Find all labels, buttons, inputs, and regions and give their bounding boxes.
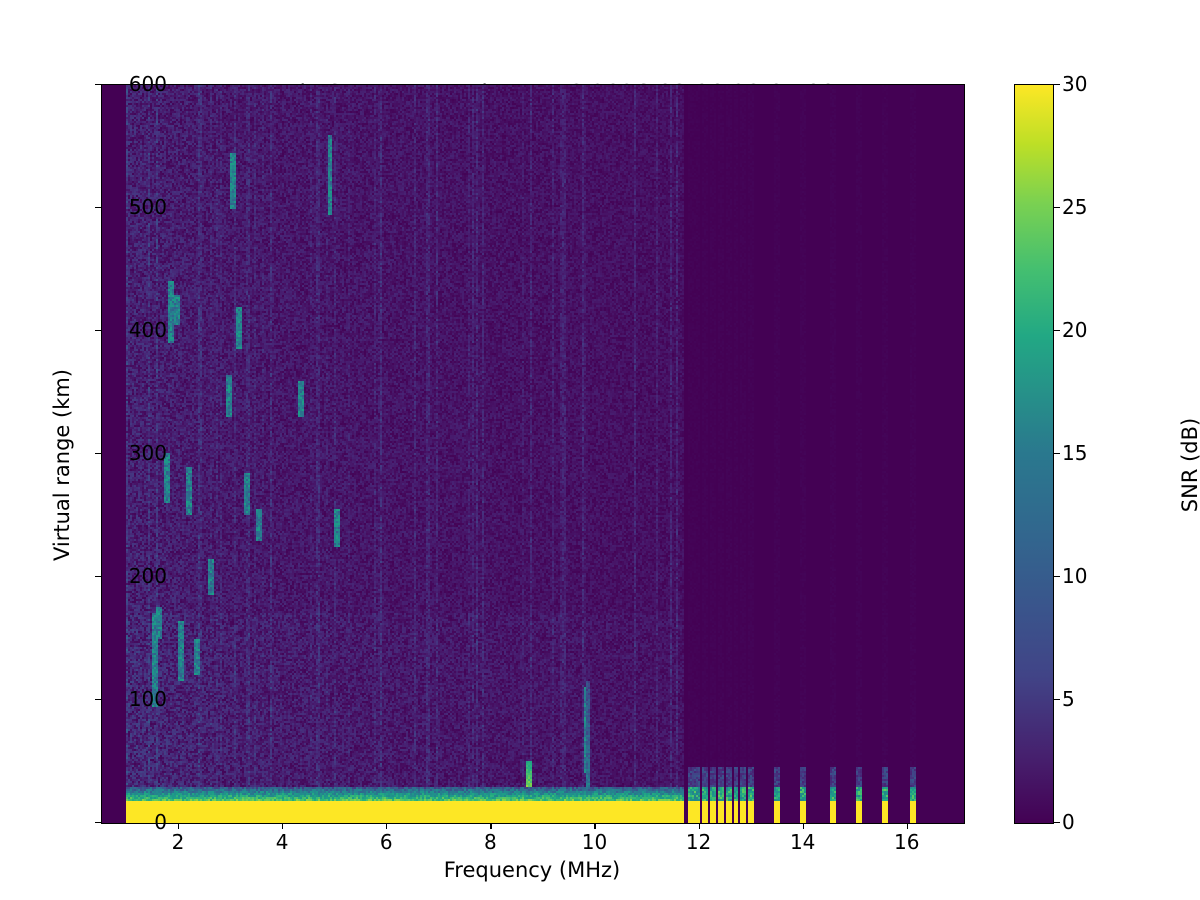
- x-tick-mark: [490, 823, 491, 829]
- colorbar-tick-label: 5: [1062, 687, 1075, 711]
- x-tick-label: 6: [380, 830, 393, 854]
- ionogram-figure: IRF Uppsala SDR Ionosonde UP158 2026-03-…: [0, 0, 1200, 900]
- ionogram-heatmap: [102, 85, 964, 823]
- y-tick-mark: [95, 822, 101, 823]
- x-tick-mark: [594, 823, 595, 829]
- x-tick-label: 12: [686, 830, 711, 854]
- y-tick-label: 0: [154, 810, 167, 834]
- y-tick-label: 200: [129, 564, 167, 588]
- x-axis-label: Frequency (MHz): [101, 858, 963, 882]
- y-tick-label: 600: [129, 72, 167, 96]
- colorbar-tick-mark: [1054, 699, 1060, 700]
- x-tick-mark: [386, 823, 387, 829]
- colorbar-tick-label: 25: [1062, 195, 1087, 219]
- x-tick-label: 2: [172, 830, 185, 854]
- colorbar-tick-mark: [1054, 207, 1060, 208]
- x-tick-label: 14: [790, 830, 815, 854]
- colorbar-tick-mark: [1054, 822, 1060, 823]
- y-tick-mark: [95, 453, 101, 454]
- colorbar: [1014, 84, 1054, 824]
- heatmap-canvas: [102, 85, 964, 823]
- colorbar-tick-mark: [1054, 576, 1060, 577]
- colorbar-tick-mark: [1054, 330, 1060, 331]
- y-tick-mark: [95, 84, 101, 85]
- x-tick-mark: [178, 823, 179, 829]
- colorbar-tick-label: 10: [1062, 564, 1087, 588]
- x-tick-mark: [282, 823, 283, 829]
- colorbar-label: SNR (dB): [1178, 155, 1200, 775]
- ionogram-plot-area: [101, 84, 965, 824]
- x-tick-mark: [699, 823, 700, 829]
- colorbar-tick-label: 15: [1062, 441, 1087, 465]
- colorbar-tick-label: 0: [1062, 810, 1075, 834]
- colorbar-tick-label: 20: [1062, 318, 1087, 342]
- y-tick-mark: [95, 207, 101, 208]
- colorbar-tick-label: 30: [1062, 72, 1087, 96]
- x-tick-label: 8: [484, 830, 497, 854]
- y-tick-label: 300: [129, 441, 167, 465]
- y-tick-label: 400: [129, 318, 167, 342]
- x-tick-label: 4: [276, 830, 289, 854]
- y-tick-mark: [95, 330, 101, 331]
- x-tick-label: 10: [582, 830, 607, 854]
- y-tick-mark: [95, 699, 101, 700]
- x-tick-mark: [907, 823, 908, 829]
- colorbar-tick-mark: [1054, 453, 1060, 454]
- colorbar-tick-mark: [1054, 84, 1060, 85]
- y-axis-label: Virtual range (km): [50, 155, 74, 775]
- x-tick-label: 16: [894, 830, 919, 854]
- y-tick-mark: [95, 576, 101, 577]
- x-tick-mark: [803, 823, 804, 829]
- y-tick-label: 500: [129, 195, 167, 219]
- y-tick-label: 100: [129, 687, 167, 711]
